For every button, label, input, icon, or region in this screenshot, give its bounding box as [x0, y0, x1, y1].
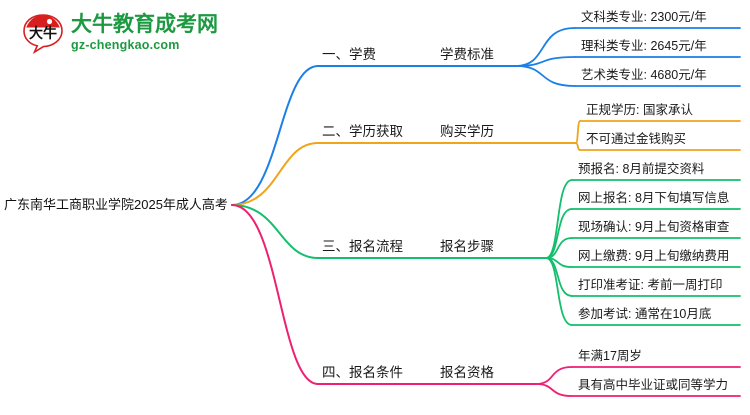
branch-level1-label-process[interactable]: 三、报名流程 — [322, 240, 403, 254]
leaf-label-process-3[interactable]: 网上缴费: 9月上旬缴纳费用 — [578, 250, 729, 263]
branch-level2-label-process[interactable]: 报名步骤 — [440, 240, 494, 254]
leaf-label-process-5[interactable]: 参加考试: 通常在10月底 — [578, 308, 711, 321]
branch-level2-label-requirements[interactable]: 报名资格 — [440, 366, 494, 380]
root-node-label[interactable]: 广东南华工商职业学院2025年成人高考 — [4, 198, 228, 211]
branch-level1-label-requirements[interactable]: 四、报名条件 — [322, 366, 403, 380]
leaf-label-requirements-1[interactable]: 具有高中毕业证或同等学力 — [578, 379, 728, 392]
branch-level1-label-diploma[interactable]: 二、学历获取 — [322, 125, 403, 139]
branch-level1-label-tuition[interactable]: 一、学费 — [322, 48, 376, 62]
branch-level2-label-diploma[interactable]: 购买学历 — [440, 125, 494, 139]
leaf-label-diploma-0[interactable]: 正规学历: 国家承认 — [586, 104, 693, 117]
leaf-label-requirements-0[interactable]: 年满17周岁 — [578, 350, 642, 363]
leaf-label-tuition-1[interactable]: 理科类专业: 2645元/年 — [581, 40, 707, 53]
leaf-label-tuition-0[interactable]: 文科类专业: 2300元/年 — [581, 11, 707, 24]
leaf-label-process-1[interactable]: 网上报名: 8月下旬填写信息 — [578, 192, 729, 205]
leaf-label-process-4[interactable]: 打印准考证: 考前一周打印 — [578, 279, 722, 292]
leaf-label-process-2[interactable]: 现场确认: 9月上旬资格审查 — [578, 221, 729, 234]
mindmap-canvas: 广东南华工商职业学院2025年成人高考一、学费学费标准文科类专业: 2300元/… — [0, 0, 750, 410]
branch-level2-label-tuition[interactable]: 学费标准 — [440, 48, 494, 62]
leaf-label-process-0[interactable]: 预报名: 8月前提交资料 — [578, 163, 704, 176]
leaf-label-tuition-2[interactable]: 艺术类专业: 4680元/年 — [581, 69, 707, 82]
leaf-label-diploma-1[interactable]: 不可通过金钱购买 — [586, 133, 686, 146]
